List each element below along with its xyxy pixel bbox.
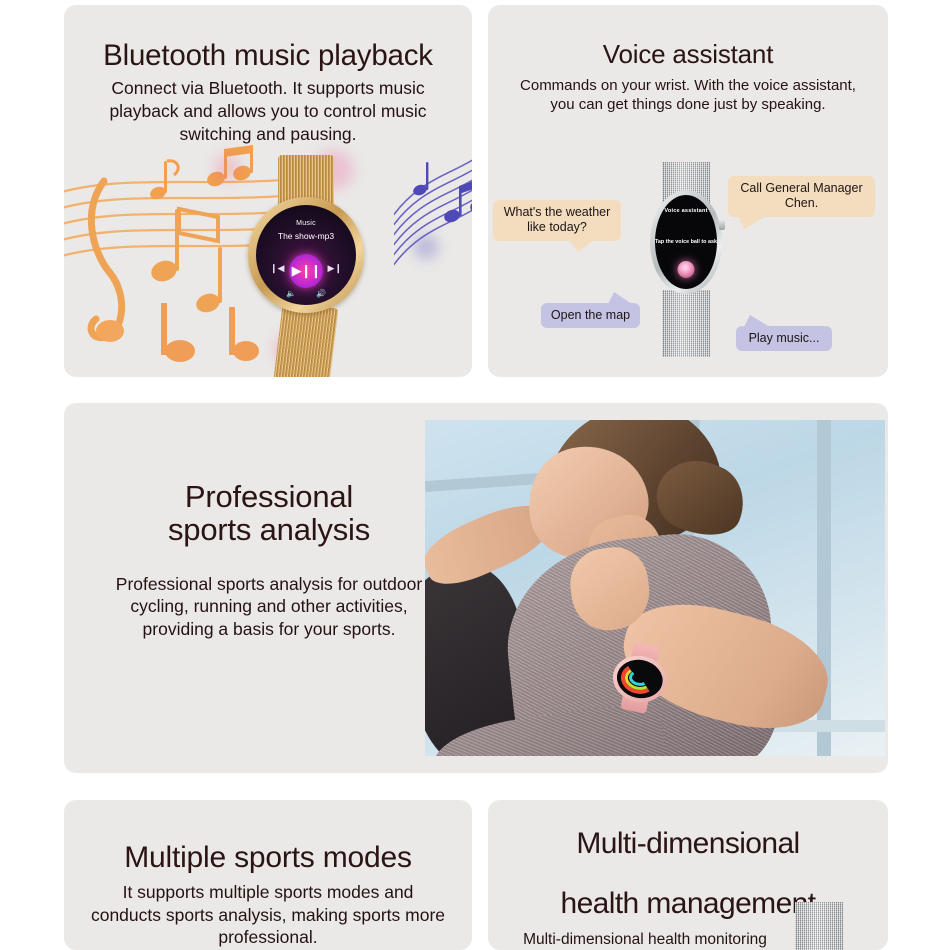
voice-ball-button[interactable] xyxy=(678,261,695,278)
watch-band-bottom xyxy=(662,290,710,357)
speech-bubble-call: Call General Manager Chen. xyxy=(728,176,875,217)
panel-health-management: Multi-dimensional health management Mult… xyxy=(488,800,888,950)
sports-panel-subtitle: Professional sports analysis for outdoor… xyxy=(104,573,434,641)
watch-face-music-player[interactable]: Music The show-mp3 ▶❙❙ ❙◀ ▶❙ 🔈 🔊 xyxy=(256,205,356,305)
modes-panel-subtitle: It supports multiple sports modes and co… xyxy=(64,881,472,949)
bubble-tail xyxy=(608,292,632,304)
pink-glow-decoration xyxy=(214,155,240,181)
volume-up-icon[interactable]: 🔊 xyxy=(316,289,326,298)
gold-smartwatch-music: Music The show-mp3 ▶❙❙ ❙◀ ▶❙ 🔈 🔊 xyxy=(240,155,372,377)
sports-panel-title-line1: Professional xyxy=(104,481,434,514)
watch-band-bottom xyxy=(273,302,338,377)
watch-crown-button[interactable] xyxy=(719,220,725,230)
music-screen-title: Music xyxy=(256,220,356,227)
voice-screen-title: Voice assistant xyxy=(655,208,717,214)
watch-case xyxy=(609,651,671,707)
play-pause-button[interactable]: ▶❙❙ xyxy=(289,254,323,288)
speech-bubble-text: What's the weather like today? xyxy=(504,205,611,234)
music-panel-title: Bluetooth music playback xyxy=(64,40,472,71)
panel-sports-analysis: Professional sports analysis Professiona… xyxy=(64,403,888,773)
health-panel-subtitle: Multi-dimensional health monitoring and … xyxy=(510,930,780,950)
bubble-tail xyxy=(569,240,594,252)
blue-glow-decoration xyxy=(414,235,438,259)
bubble-tail xyxy=(738,216,766,229)
speech-bubble-text: Play music... xyxy=(749,331,820,345)
next-track-icon[interactable]: ▶❙ xyxy=(328,263,342,274)
voice-panel-title: Voice assistant xyxy=(488,41,888,69)
modes-panel-title: Multiple sports modes xyxy=(64,842,472,874)
silver-watch-band-image xyxy=(795,902,843,950)
play-pause-icon: ▶❙❙ xyxy=(292,263,321,279)
silver-smartwatch-voice: Voice assistant Tap the voice ball to as… xyxy=(650,162,722,357)
watch-case: Voice assistant Tap the voice ball to as… xyxy=(650,190,722,294)
sports-lifestyle-photo xyxy=(425,420,885,756)
previous-track-icon[interactable]: ❙◀ xyxy=(270,263,284,274)
sports-panel-title-line2: sports analysis xyxy=(104,514,434,547)
watch-case: Music The show-mp3 ▶❙❙ ❙◀ ▶❙ 🔈 🔊 xyxy=(248,197,364,313)
speech-bubble-play-music: Play music... xyxy=(736,326,832,351)
speech-bubble-text: Open the map xyxy=(551,308,630,322)
panel-bluetooth-music: Music The show-mp3 ▶❙❙ ❙◀ ▶❙ 🔈 🔊 Bluetoo… xyxy=(64,5,472,377)
voice-screen-hint: Tap the voice ball to ask xyxy=(655,239,717,245)
speech-bubble-text: Call General Manager Chen. xyxy=(740,181,862,210)
speech-bubble-weather: What's the weather like today? xyxy=(493,200,621,241)
speech-bubble-map: Open the map xyxy=(541,303,640,328)
music-panel-subtitle: Connect via Bluetooth. It supports music… xyxy=(64,77,472,145)
watch-face-voice-assistant[interactable]: Voice assistant Tap the voice ball to as… xyxy=(655,195,717,289)
product-feature-page: Music The show-mp3 ▶❙❙ ❙◀ ▶❙ 🔈 🔊 Bluetoo… xyxy=(0,0,950,950)
watch-face-activity-rings xyxy=(613,656,666,703)
sports-text-block: Professional sports analysis Professiona… xyxy=(104,481,434,641)
volume-down-icon[interactable]: 🔈 xyxy=(286,289,296,298)
music-track-name: The show-mp3 xyxy=(256,231,356,241)
panel-sports-modes: Multiple sports modes It supports multip… xyxy=(64,800,472,950)
health-panel-title-line1: Multi-dimensional xyxy=(488,828,888,860)
voice-panel-subtitle: Commands on your wrist. With the voice a… xyxy=(488,76,888,115)
bubble-tail xyxy=(744,315,770,327)
